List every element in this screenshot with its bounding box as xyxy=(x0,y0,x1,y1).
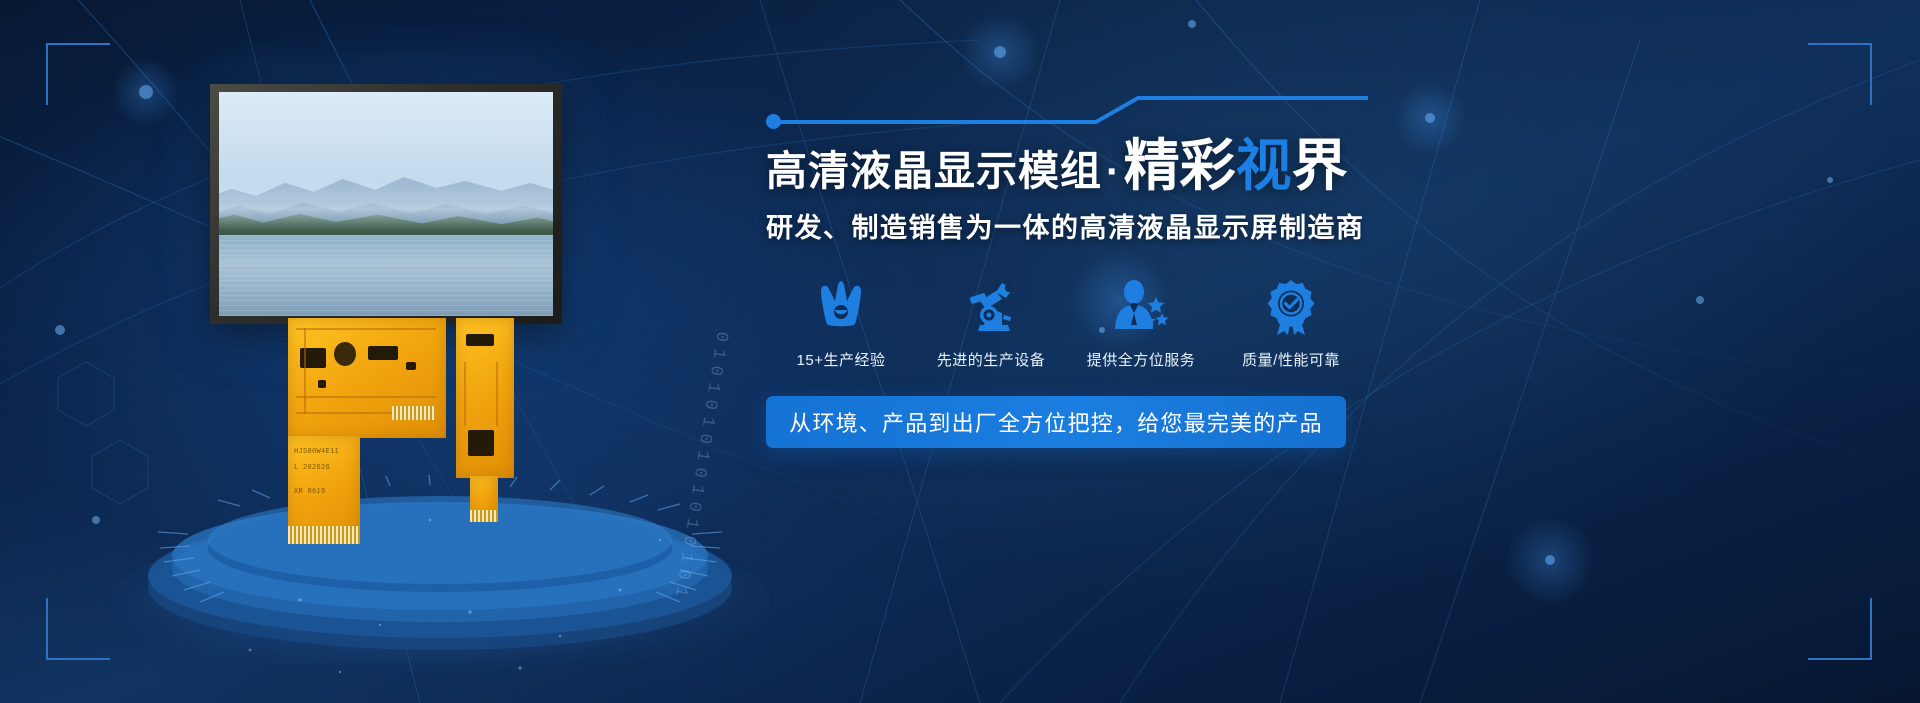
quality-badge-check-icon xyxy=(1265,275,1317,335)
fpc-trace xyxy=(296,328,436,330)
feature-list: 15+生产经验 xyxy=(766,275,1366,370)
lcd-display-module-image: HJS00W4E11 L 202626 XR 0619 xyxy=(210,84,590,494)
corner-bracket-top-left xyxy=(46,43,110,105)
screen-water xyxy=(219,235,553,316)
feature-label: 15+生产经验 xyxy=(797,349,886,370)
fpc-trace xyxy=(304,328,306,414)
promo-banner: 0101010101010101 xyxy=(0,0,1920,703)
fpc-label-rev: XR 0619 xyxy=(294,488,326,496)
lcd-bezel xyxy=(210,84,562,324)
accent-line-decoration xyxy=(766,96,1376,136)
fpc-label-part: HJS00W4E11 xyxy=(294,448,339,456)
fpc-trace xyxy=(296,396,436,398)
title-lead: 高清液晶显示模组 xyxy=(766,151,1102,192)
fpc-label-lot: L 202626 xyxy=(294,464,330,472)
crown-icon xyxy=(813,275,869,335)
banner-content: 高清液晶显示模组 · 精彩视界 研发、制造销售为一体的高清液晶显示屏制造商 15… xyxy=(766,96,1376,448)
fpc-side-board xyxy=(456,318,514,478)
podium-stage xyxy=(110,496,770,678)
fpc-chip xyxy=(468,430,494,456)
fpc-chip-round xyxy=(334,342,356,366)
cta-text: 从环境、产品到出厂全方位把控，给您最完美的产品 xyxy=(789,406,1323,438)
feature-item-equipment: 先进的生产设备 xyxy=(916,275,1066,370)
fpc-gold-fingers xyxy=(392,406,436,420)
screen-haze xyxy=(219,182,553,231)
fpc-connector-pads xyxy=(288,526,360,544)
fpc-main-board xyxy=(288,318,446,438)
feature-item-quality: 质量/性能可靠 xyxy=(1216,275,1366,370)
fpc-side-tail xyxy=(470,476,498,522)
page-title: 高清液晶显示模组 · 精彩视界 xyxy=(766,140,1376,192)
title-highlight-part-1: 精彩 xyxy=(1124,134,1236,197)
title-separator: · xyxy=(1102,151,1124,192)
fpc-trace xyxy=(496,362,498,426)
corner-bracket-bottom-left xyxy=(46,598,110,660)
fpc-chip xyxy=(368,346,398,360)
fpc-chip xyxy=(318,380,326,388)
fpc-chip xyxy=(406,362,416,370)
page-subtitle: 研发、制造销售为一体的高清液晶显示屏制造商 xyxy=(766,206,1376,245)
stage-tick-marks xyxy=(158,475,722,602)
corner-bracket-bottom-right xyxy=(1808,598,1872,660)
accent-dot xyxy=(766,114,781,129)
corner-bracket-top-right xyxy=(1808,43,1872,105)
fpc-trace xyxy=(464,362,466,426)
feature-label: 先进的生产设备 xyxy=(937,349,1046,370)
binary-code-strip: 0101010101010101 xyxy=(669,330,731,605)
service-person-stars-icon xyxy=(1112,275,1170,335)
feature-item-service: 提供全方位服务 xyxy=(1066,275,1216,370)
fpc-chip xyxy=(466,334,494,346)
fpc-tail: HJS00W4E11 L 202626 XR 0619 xyxy=(288,436,360,544)
accent-path-svg xyxy=(766,96,1376,136)
feature-item-experience: 15+生产经验 xyxy=(766,275,916,370)
lcd-screen xyxy=(219,92,553,316)
cta-banner[interactable]: 从环境、产品到出厂全方位把控，给您最完美的产品 xyxy=(766,396,1346,448)
title-highlight-part-2: 视 xyxy=(1236,134,1292,197)
robot-arm-icon xyxy=(962,275,1020,335)
feature-label: 提供全方位服务 xyxy=(1087,349,1196,370)
title-highlight-part-3: 界 xyxy=(1292,134,1348,197)
feature-label: 质量/性能可靠 xyxy=(1242,349,1340,370)
title-highlight: 精彩视界 xyxy=(1124,140,1348,192)
fpc-connector-pads xyxy=(470,510,498,522)
